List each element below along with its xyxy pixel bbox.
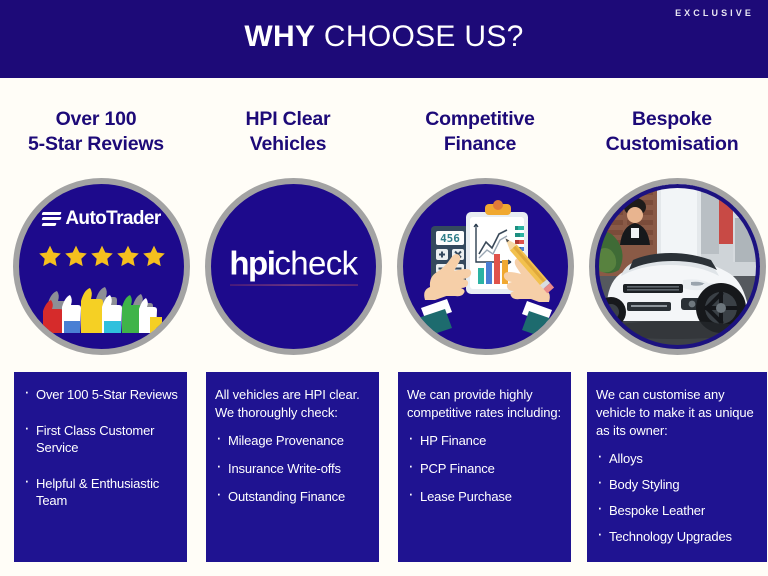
list-item: PCP Finance: [407, 460, 564, 477]
autotrader-badge: AutoTrader: [13, 178, 190, 355]
hpi-wordmark-light: check: [274, 244, 357, 281]
badge-circle: 456: [397, 178, 574, 355]
list-item: Technology Upgrades: [596, 528, 760, 545]
bullet-list: HP Finance PCP Finance Lease Purchase: [407, 432, 564, 505]
calculator-display-value: 456: [440, 232, 460, 245]
list-item: Lease Purchase: [407, 488, 564, 505]
bullet-list: Mileage Provenance Insurance Write-offs …: [215, 432, 372, 505]
star-icon: [64, 244, 88, 268]
badge-circle: hpicheck: [205, 178, 382, 355]
star-icon: [116, 244, 140, 268]
page-title: WHY CHOOSE US?: [0, 20, 768, 54]
list-item: Mileage Provenance: [215, 432, 372, 449]
textbox-intro: We can provide highly competitive rates …: [407, 386, 564, 422]
list-item: HP Finance: [407, 432, 564, 449]
list-item: Body Styling: [596, 476, 760, 493]
column-heading-line1: Over 100: [56, 108, 137, 130]
thumbs-up-group-icon: [40, 277, 164, 333]
column-heading-line1: Bespoke: [632, 108, 712, 130]
list-item: First Class Customer Service: [23, 422, 180, 456]
bullet-list: Alloys Body Styling Bespoke Leather Tech…: [596, 450, 760, 545]
star-icon: [142, 244, 166, 268]
feature-textbox-finance: We can provide highly competitive rates …: [398, 372, 571, 562]
list-item: Insurance Write-offs: [215, 460, 372, 477]
hpi-underline-rule: [230, 284, 358, 286]
hpi-logo: hpicheck: [211, 244, 376, 286]
white-suv-photo: [595, 184, 760, 349]
feature-column-bespoke: Bespoke Customisation: [576, 78, 768, 576]
header-banner: EXCLUSIVE WHY CHOOSE US?: [0, 0, 768, 78]
column-heading-reviews: Over 100 5-Star Reviews: [0, 107, 192, 157]
feature-column-hpi: HPI Clear Vehicles hpicheck All vehicles…: [192, 78, 384, 576]
star-icon: [90, 244, 114, 268]
list-item: Outstanding Finance: [215, 488, 372, 505]
slide-root: EXCLUSIVE WHY CHOOSE US? Over 100 5-Star…: [0, 0, 768, 576]
feature-textbox-bespoke: We can customise any vehicle to make it …: [587, 372, 767, 562]
five-star-rating: [19, 244, 184, 268]
bullet-list: Over 100 5-Star Reviews First Class Cust…: [23, 386, 180, 509]
autotrader-wordmark: AutoTrader: [65, 208, 160, 230]
hpi-check-badge: hpicheck: [205, 178, 382, 355]
list-item: Over 100 5-Star Reviews: [23, 386, 180, 403]
feature-column-finance: Competitive Finance 456: [384, 78, 576, 576]
brand-eyebrow: EXCLUSIVE: [675, 8, 754, 18]
column-heading-line2: Customisation: [606, 133, 739, 155]
feature-columns: Over 100 5-Star Reviews AutoTrader: [0, 78, 768, 576]
autotrader-mark-icon: [42, 212, 61, 227]
list-item: Helpful & Enthusiastic Team: [23, 475, 180, 509]
star-icon: [38, 244, 62, 268]
calculator-clipboard-icon: 456: [403, 184, 568, 349]
hpi-wordmark-bold: hpi: [229, 244, 274, 281]
badge-circle: AutoTrader: [13, 178, 190, 355]
column-heading-line1: Competitive: [425, 108, 534, 130]
vehicle-photo-badge: [589, 178, 766, 355]
column-heading-line1: HPI Clear: [246, 108, 331, 130]
page-title-strong: WHY: [244, 20, 315, 53]
textbox-intro: All vehicles are HPI clear. We thoroughl…: [215, 386, 372, 422]
column-heading-hpi: HPI Clear Vehicles: [192, 107, 384, 157]
column-heading-line2: Vehicles: [250, 133, 326, 155]
column-heading-finance: Competitive Finance: [384, 107, 576, 157]
textbox-intro: We can customise any vehicle to make it …: [596, 386, 760, 440]
autotrader-logo: AutoTrader: [19, 208, 184, 230]
list-item: Bespoke Leather: [596, 502, 760, 519]
list-item: Alloys: [596, 450, 760, 467]
page-title-light: CHOOSE US?: [324, 20, 524, 53]
badge-circle: [589, 178, 766, 355]
column-heading-bespoke: Bespoke Customisation: [576, 107, 768, 157]
column-heading-line2: 5-Star Reviews: [28, 133, 164, 155]
finance-illustration-badge: 456: [397, 178, 574, 355]
feature-textbox-hpi: All vehicles are HPI clear. We thoroughl…: [206, 372, 379, 562]
feature-column-reviews: Over 100 5-Star Reviews AutoTrader: [0, 78, 192, 576]
column-heading-line2: Finance: [444, 133, 516, 155]
feature-textbox-reviews: Over 100 5-Star Reviews First Class Cust…: [14, 372, 187, 562]
